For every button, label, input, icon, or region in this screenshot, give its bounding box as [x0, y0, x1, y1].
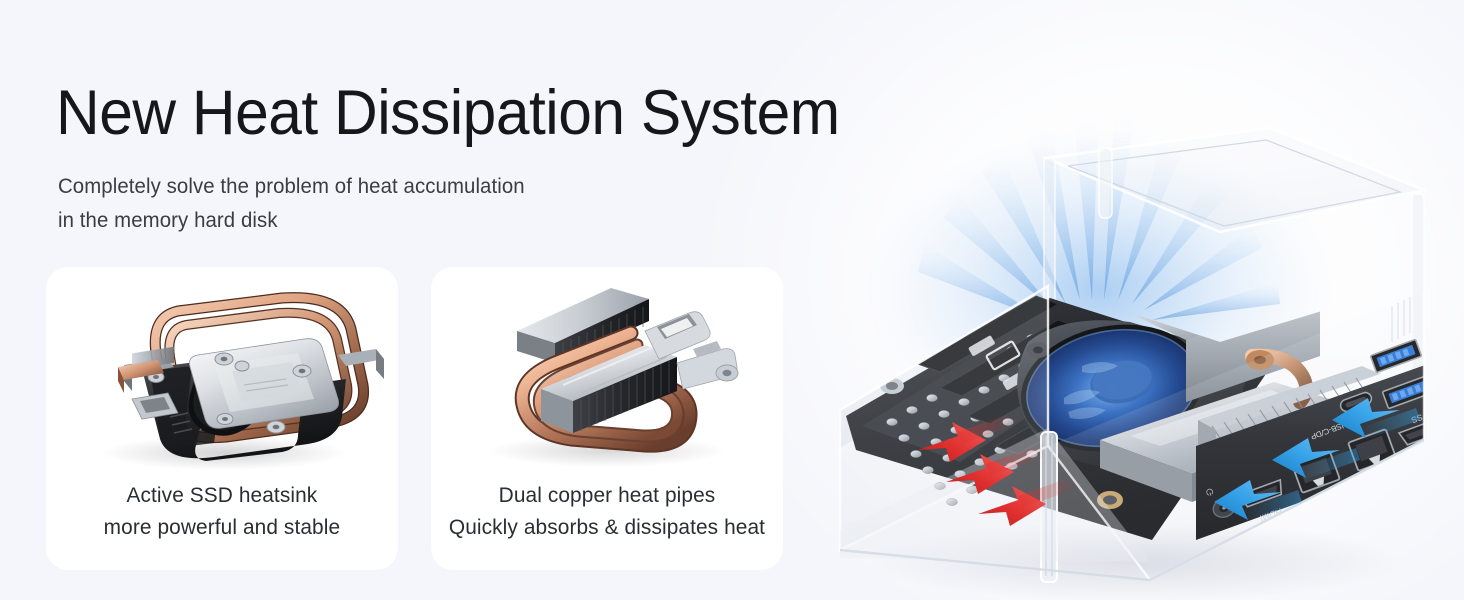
heat-dissipation-marketing-banner: New Heat Dissipation System Completely s… [0, 0, 1464, 600]
feature-card-caption: Dual copper heat pipes Quickly absorbs &… [449, 479, 765, 543]
port-label-hdmi-2: HDMI [1419, 444, 1444, 461]
page-title: New Heat Dissipation System [56, 80, 840, 146]
dual-copper-heat-pipes-image [431, 267, 783, 479]
feature-card-caption-line-1: Dual copper heat pipes [449, 479, 765, 511]
feature-card-caption-line-2: more powerful and stable [104, 511, 341, 543]
feature-card-active-ssd-heatsink: Active SSD heatsink more powerful and st… [46, 267, 398, 570]
page-subtitle: Completely solve the problem of heat acc… [58, 170, 525, 238]
feature-card-dual-copper-heat-pipes: Dual copper heat pipes Quickly absorbs &… [431, 267, 783, 570]
feature-card-caption: Active SSD heatsink more powerful and st… [104, 479, 341, 543]
page-subtitle-line-1: Completely solve the problem of heat acc… [58, 170, 525, 204]
feature-card-caption-line-1: Active SSD heatsink [104, 479, 341, 511]
feature-card-caption-line-2: Quickly absorbs & dissipates heat [449, 511, 765, 543]
feature-card-list: Active SSD heatsink more powerful and st… [46, 267, 783, 570]
mini-pc-product-image: ⏻ HDMI 2.5G LAN [800, 110, 1464, 600]
page-subtitle-line-2: in the memory hard disk [58, 204, 525, 238]
active-ssd-heatsink-image [46, 267, 398, 479]
